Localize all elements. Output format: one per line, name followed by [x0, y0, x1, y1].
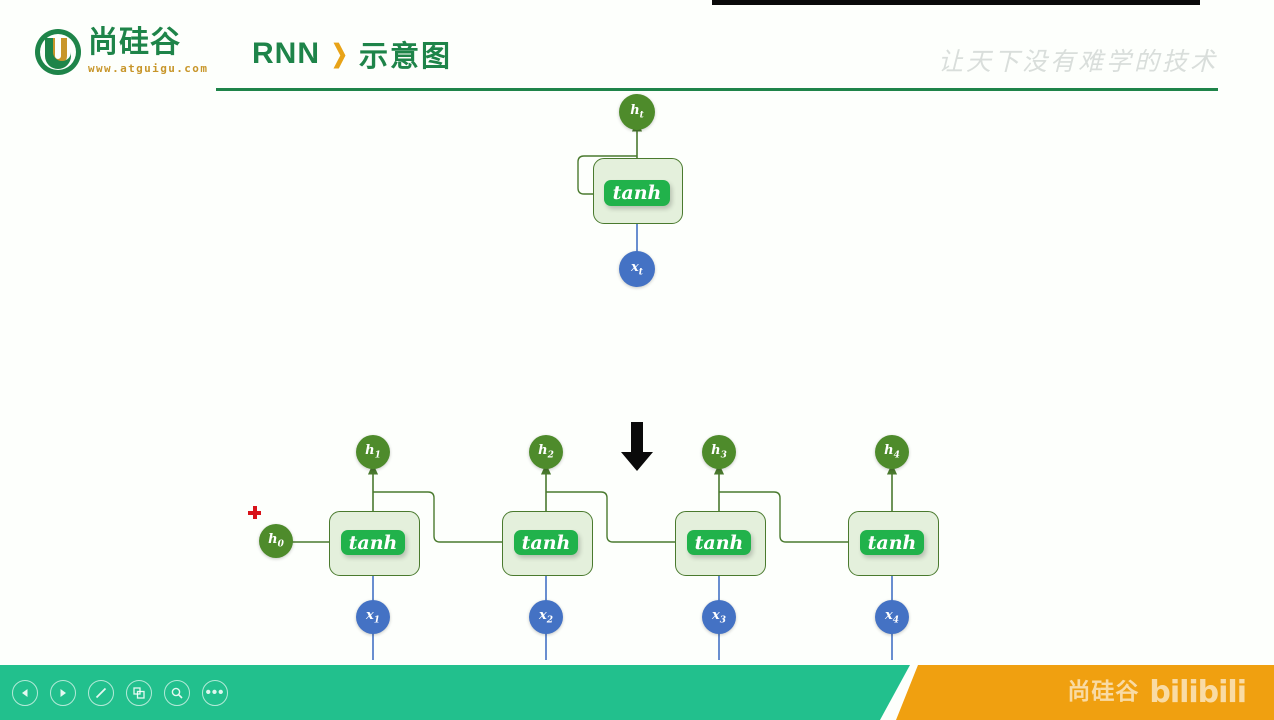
state-node-h3-label: h3	[711, 444, 727, 461]
state-node-ht-label: ht	[630, 104, 644, 121]
input-node-x2: x2	[529, 600, 563, 634]
tanh-label-4: tanh	[868, 532, 917, 554]
diagram-canvas: tanh ht xt h0 tanh h1 x1 tanh h2 x2 tanh…	[0, 86, 1274, 660]
previous-button[interactable]	[12, 680, 38, 706]
player-toolbar: •••	[8, 672, 228, 714]
activation-tanh-2: tanh	[514, 530, 578, 555]
slide-header: 尚硅谷 www.atguigu.com RNN ❯ 示意图 让天下没有难学的技术	[0, 14, 1274, 86]
pages-icon	[132, 686, 146, 700]
input-node-x3-label: x3	[712, 609, 726, 626]
title-en: RNN	[252, 37, 320, 71]
tanh-label-1: tanh	[349, 532, 398, 554]
input-node-x1: x1	[356, 600, 390, 634]
state-node-h3: h3	[702, 435, 736, 469]
state-node-h0-label: h0	[268, 533, 284, 550]
logo-text: 尚硅谷	[88, 26, 181, 60]
more-button[interactable]: •••	[202, 680, 228, 706]
state-node-h4-label: h4	[884, 444, 900, 461]
input-node-xt: xt	[619, 251, 655, 287]
tanh-label-3: tanh	[695, 532, 744, 554]
activation-tanh-4: tanh	[860, 530, 924, 555]
input-node-x1-label: x1	[366, 609, 380, 626]
state-node-h1: h1	[356, 435, 390, 469]
red-plus-marker	[248, 506, 261, 519]
state-node-h2: h2	[529, 435, 563, 469]
activation-tanh-folded: tanh	[604, 180, 670, 206]
state-node-h1-label: h1	[365, 444, 381, 461]
state-node-h4: h4	[875, 435, 909, 469]
down-arrow-icon	[620, 422, 654, 472]
activation-tanh-1: tanh	[341, 530, 405, 555]
input-node-x2-label: x2	[539, 609, 553, 626]
state-node-ht: ht	[619, 94, 655, 130]
input-node-xt-label: xt	[631, 261, 643, 278]
atguigu-logo: 尚硅谷 www.atguigu.com	[32, 24, 222, 80]
watermark-bar	[896, 665, 1274, 720]
activation-tanh-3: tanh	[687, 530, 751, 555]
triangle-right-icon	[57, 687, 69, 699]
input-node-x3: x3	[702, 600, 736, 634]
tanh-label: tanh	[613, 182, 662, 204]
window-top-edge-bar	[712, 0, 1200, 5]
state-node-h2-label: h2	[538, 444, 554, 461]
brand-slogan: 让天下没有难学的技术	[938, 42, 1218, 78]
page-title: RNN ❯ 示意图	[252, 32, 452, 76]
input-node-x4-label: x4	[885, 609, 899, 626]
next-button[interactable]	[50, 680, 76, 706]
ellipsis-icon: •••	[206, 688, 225, 698]
triangle-left-icon	[19, 687, 31, 699]
pages-button[interactable]	[126, 680, 152, 706]
search-button[interactable]	[164, 680, 190, 706]
title-cn: 示意图	[359, 33, 452, 75]
logo-u-icon	[32, 26, 84, 78]
pen-icon	[93, 685, 109, 701]
chevron-right-icon: ❯	[331, 42, 348, 67]
input-node-x4: x4	[875, 600, 909, 634]
search-icon	[170, 686, 184, 700]
tanh-label-2: tanh	[522, 532, 571, 554]
state-node-h0: h0	[259, 524, 293, 558]
logo-url: www.atguigu.com	[88, 62, 208, 75]
pen-button[interactable]	[88, 680, 114, 706]
